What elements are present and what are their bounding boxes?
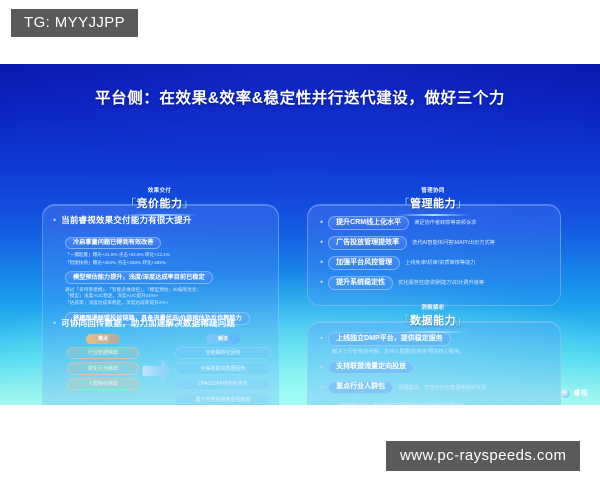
solution-chip: DPA/SDPA结构化信息 <box>175 378 271 391</box>
capability-panel-bidding: • 当前睿视效果交付能力有很大提升 冷启拿量问题已得到有效改善 「一键起量」曝光… <box>42 204 279 405</box>
bullet-dot-icon: • <box>320 278 323 287</box>
eyebrow-management: 管理协同 <box>307 186 559 194</box>
list-item: • 支持联盟流量定向投放 <box>320 361 550 375</box>
bullet-dot-icon: • <box>320 218 323 227</box>
pain-solution-flow-diagram: 难点 行业数据稀疏 转化行为稀疏 人群特征稀疏 <box>53 334 269 405</box>
management-note: 优化服务性能\防刷能力\扣计费升级等 <box>398 279 484 286</box>
management-pill: 加强平台风控管理 <box>328 256 400 270</box>
bracket-open-left: 「 <box>125 198 137 210</box>
management-pill: 提升系统稳定性 <box>328 276 393 290</box>
list-item: • 加强平台风控管理 上线免审\机审\资质审核等能力 <box>320 256 550 270</box>
pain-point-chip: 人群特征稀疏 <box>67 378 139 391</box>
section-header-management: 管理协同 「管理能力」 <box>307 186 559 220</box>
bidding-detail-group: 冷启拿量问题已得到有效改善 「一键起量」曝光+41.5% 点击+52.8% 转化… <box>65 231 269 325</box>
pain-point-chip: 行业数据稀疏 <box>67 347 139 360</box>
pain-points-column: 难点 行业数据稀疏 转化行为稀疏 人群特征稀疏 <box>67 334 139 393</box>
card-title-left: 「竞价能力」 <box>42 195 277 211</box>
card-title-text-data: 数据能力 <box>410 315 456 327</box>
bracket-close-data: 」 <box>456 315 468 327</box>
management-note: 满足协作者转款等高频诉求 <box>414 219 476 226</box>
note-achievement-rate: 「达成率」浅度达成率稳定，深度达成率提升2%+ <box>65 300 269 307</box>
management-note: 上线免审\机审\资质审核等能力 <box>405 259 475 266</box>
bullet-dot-icon: • <box>320 383 323 392</box>
stat-line-smart-support: 「智能扶持」曝光+484% 点击+258% 转化+285% <box>65 260 269 266</box>
data-pill: 支持联盟流量定向投放 <box>328 361 414 375</box>
card-title-management: 「管理能力」 <box>307 195 559 211</box>
bullet-dot-icon: • <box>53 319 56 328</box>
bidding-block-one: • 当前睿视效果交付能力有很大提升 冷启拿量问题已得到有效改善 「一键起量」曝光… <box>53 214 269 325</box>
bullet-row: • 可协同回传数据，助力加速解决数据稀疏问题 <box>53 317 269 329</box>
data-last-line: 人群画像分析，支持年龄\性别\地域\城市等维度数据分析 <box>336 402 465 405</box>
card-title-data: 「数据能力」 <box>307 312 559 328</box>
title-underline-management <box>396 214 470 216</box>
presentation-slide: 平台侧：在效果&效率&稳定性并行迭代建设，做好三个力 效果交付 「竞价能力」 •… <box>0 64 600 405</box>
bottom-watermark-badge: www.pc-rayspeeds.com <box>386 441 580 471</box>
section-header-data: 洞察解析 「数据能力」 <box>307 303 559 337</box>
flow-arrow-icon <box>141 354 175 388</box>
logo-mark-icon <box>561 389 570 398</box>
data-subnote: 解决了历史性能问题，支持人群圈选\判定\预估核心服务。 <box>332 348 550 355</box>
card-title-text-left: 竞价能力 <box>137 198 183 210</box>
slide-title: 平台侧：在效果&效率&稳定性并行迭代建设，做好三个力 <box>0 86 600 108</box>
management-items-list: • 提升CRM线上化水平 满足协作者转款等高频诉求 • 广告投放管理提效率 迭代… <box>320 216 550 290</box>
management-note: 迭代AI智能体问答\MAPI\出价方式等 <box>412 239 495 246</box>
management-pill: 广告投放管理提效率 <box>328 236 407 250</box>
list-item: • 提升系统稳定性 优化服务性能\防刷能力\扣计费升级等 <box>320 276 550 290</box>
data-note: 挖掘建设，支持定向包管理等高频诉求 <box>398 384 486 391</box>
bullet-dot-icon: • <box>320 401 323 405</box>
brand-logo: 睿视 <box>561 388 588 398</box>
eyebrow-left: 效果交付 <box>42 186 277 194</box>
logo-text: 睿视 <box>573 388 588 398</box>
top-watermark-badge: TG: MYYJJPP <box>11 9 138 37</box>
data-pill: 重点行业人群包 <box>328 381 393 395</box>
pill-cold-start: 冷启拿量问题已得到有效改善 <box>65 237 161 250</box>
bidding-block-two: • 可协同回传数据，助力加速解决数据稀疏问题 难点 行业数据稀疏 转化行为稀疏 … <box>53 317 269 405</box>
bullet-dot-icon: • <box>320 258 323 267</box>
solutions-label: 解法 <box>206 334 240 344</box>
solution-chip: 全链路转化回传 <box>175 347 271 360</box>
title-underline-left <box>123 214 197 216</box>
list-item: • 重点行业人群包 挖掘建设，支持定向包管理等高频诉求 <box>320 381 550 395</box>
section-header-left: 效果交付 「竞价能力」 <box>42 186 277 220</box>
card-title-text-management: 管理能力 <box>410 198 456 210</box>
solution-chip: 基于内容挖掘商业化标签 <box>175 393 271 405</box>
bullet-dot-icon: • <box>320 363 323 372</box>
bullet-dot-icon: • <box>320 238 323 247</box>
data-items-list: • 上线独立DMP平台，提供稳定服务 解决了历史性能问题，支持人群圈选\判定\预… <box>320 332 550 405</box>
bracket-close-management: 」 <box>456 198 468 210</box>
bracket-open-management: 「 <box>399 198 411 210</box>
bracket-close-left: 」 <box>183 198 195 210</box>
solution-chip: 全渠道助攻数据回传 <box>175 362 271 375</box>
pain-points-label: 难点 <box>86 334 120 344</box>
pain-point-chip: 转化行为稀疏 <box>67 362 139 375</box>
title-underline-data <box>396 331 470 333</box>
list-item: • 广告投放管理提效率 迭代AI智能体问答\MAPI\出价方式等 <box>320 236 550 250</box>
eyebrow-data: 洞察解析 <box>307 303 559 311</box>
pill-model-prediction: 模型预估能力提升，浅度/深度达成率目前已稳定 <box>65 271 213 284</box>
stat-line-one-click: 「一键起量」曝光+41.5% 点击+52.8% 转化+12.1% <box>65 252 269 258</box>
bracket-open-data: 「 <box>399 315 411 327</box>
list-item: • 人群画像分析，支持年龄\性别\地域\城市等维度数据分析 <box>320 401 550 405</box>
bullet-heading: 可协同回传数据，助力加速解决数据稀疏问题 <box>61 317 235 329</box>
solutions-column: 解法 全链路转化回传 全渠道助攻数据回传 DPA/SDPA结构化信息 基于内容挖… <box>175 334 271 405</box>
